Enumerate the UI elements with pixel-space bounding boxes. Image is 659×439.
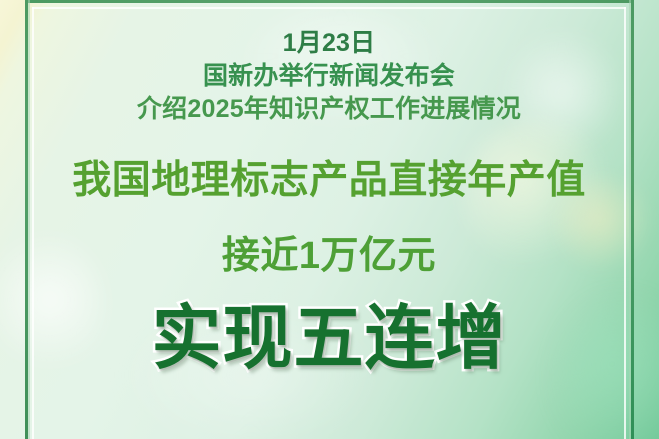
headline-line-2: 接近1万亿元 — [34, 237, 624, 277]
frame-rule-right-soft — [629, 0, 631, 439]
headline-line-1: 我国地理标志产品直接年产值 — [34, 161, 624, 202]
frame-rule-top — [25, 0, 634, 3]
frame-rule-left — [25, 0, 28, 439]
event-topic: 介绍2025年知识产权工作进展情况 — [34, 96, 624, 123]
poster-content: 1月23日 国新办举行新闻发布会 介绍2025年知识产权工作进展情况 我国地理标… — [34, 9, 624, 439]
kicker-headline: 实现五连增 — [34, 303, 624, 373]
frame-rule-right — [631, 0, 634, 439]
event-date: 1月23日 — [34, 30, 624, 57]
event-organizer: 国新办举行新闻发布会 — [34, 63, 624, 90]
frame-rule-left-soft — [28, 0, 30, 439]
frame-hairline-right — [624, 7, 626, 439]
poster-canvas: 1月23日 国新办举行新闻发布会 介绍2025年知识产权工作进展情况 我国地理标… — [0, 0, 659, 439]
